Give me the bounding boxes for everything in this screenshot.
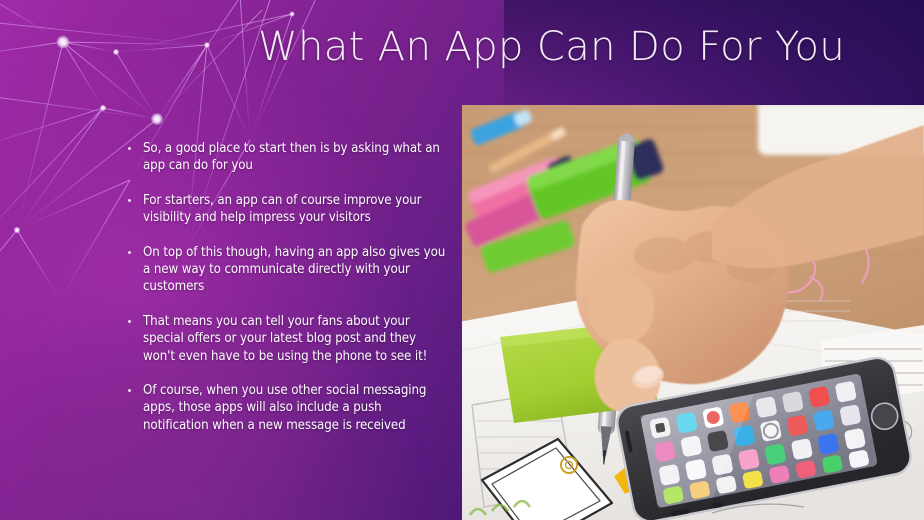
bullet-item: On top of this though, having an app als… xyxy=(126,244,448,296)
bullet-item: For starters, an app can of course impro… xyxy=(126,192,448,227)
photo-illustration xyxy=(462,105,924,520)
bullet-list: So, a good place to start then is by ask… xyxy=(126,140,448,434)
bullet-item: Of course, when you use other social mes… xyxy=(126,382,448,434)
presentation-slide: What An App Can Do For You So, a good pl… xyxy=(0,0,924,520)
slide-photo xyxy=(462,105,924,520)
bullet-item: So, a good place to start then is by ask… xyxy=(126,140,448,175)
slide-title: What An App Can Do For You xyxy=(258,24,878,71)
bullet-item: That means you can tell your fans about … xyxy=(126,313,448,365)
